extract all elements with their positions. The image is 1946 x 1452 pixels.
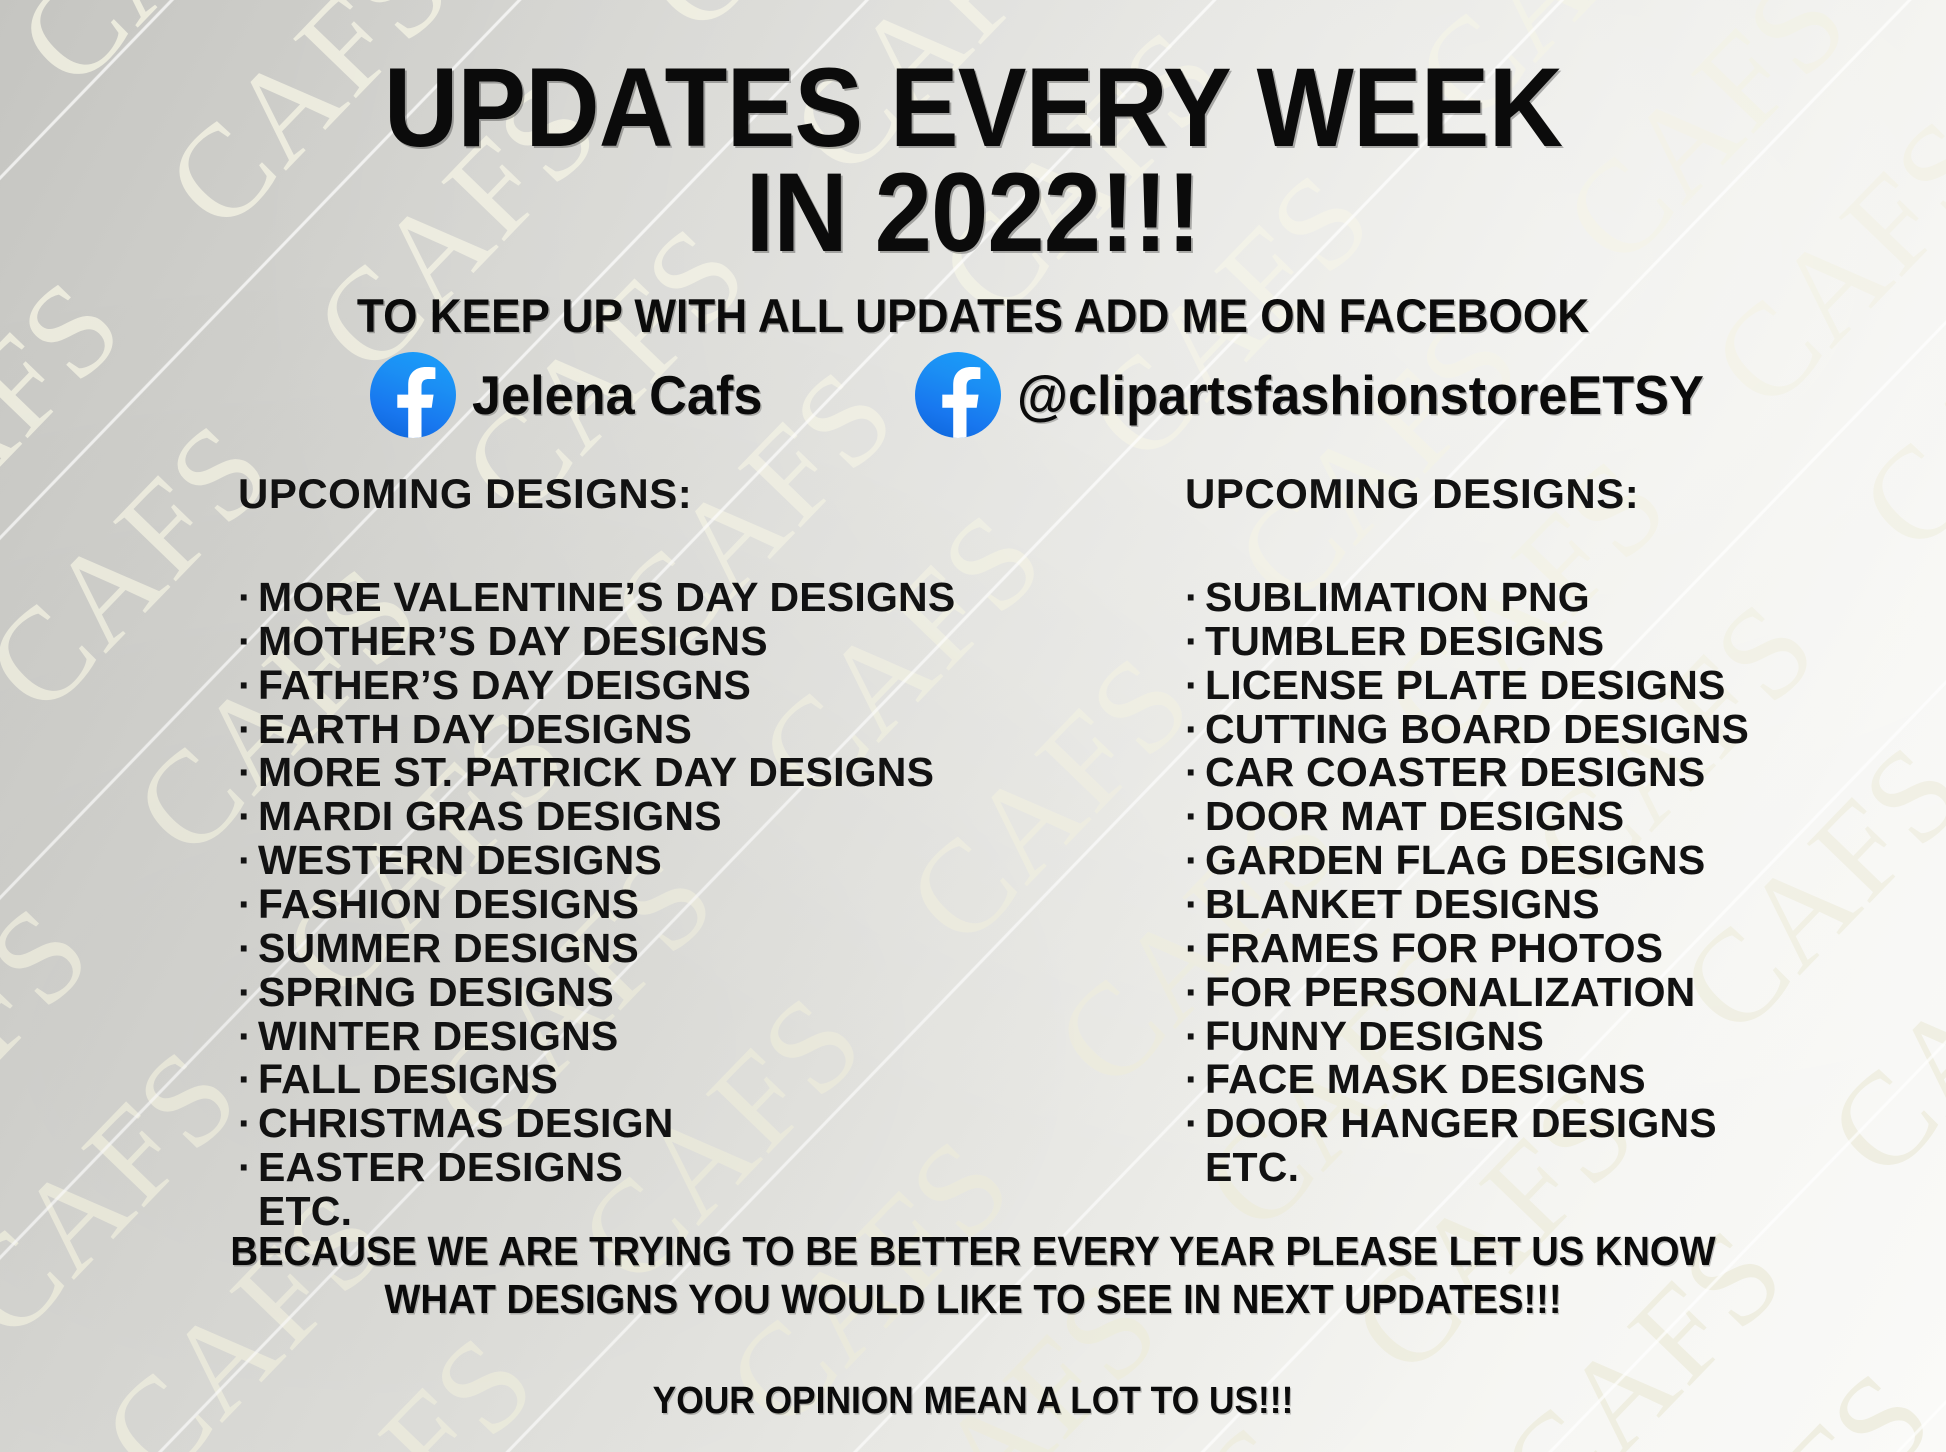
list-bullet: · xyxy=(238,1146,258,1190)
list-item: ·MORE ST. PATRICK DAY DESIGNS xyxy=(238,751,955,795)
column-heading: UPCOMING DESIGNS: xyxy=(238,470,955,518)
list-item: ·DOOR HANGER DESIGNS xyxy=(1185,1102,1749,1146)
list-bullet: · xyxy=(1185,1102,1205,1146)
list-bullet: · xyxy=(238,1102,258,1146)
list-bullet: · xyxy=(238,751,258,795)
list-item-label: DOOR MAT DESIGNS xyxy=(1205,795,1624,839)
list-bullet: · xyxy=(238,795,258,839)
list-bullet: · xyxy=(238,971,258,1015)
list-item-label: FOR PERSONALIZATION xyxy=(1205,971,1695,1015)
list-bullet: · xyxy=(238,664,258,708)
social-account-etsy-store[interactable]: @clipartsfashionstoreETSY xyxy=(915,352,1740,438)
list-item-label: GARDEN FLAG DESIGNS xyxy=(1205,839,1705,883)
list-bullet: · xyxy=(238,1058,258,1102)
headline-line-1: UPDATES EVERY WEEK xyxy=(78,55,1868,160)
list-item: ·EARTH DAY DESIGNS xyxy=(238,708,955,752)
list-item: ·FACE MASK DESIGNS xyxy=(1185,1058,1749,1102)
list-bullet: · xyxy=(1185,576,1205,620)
list-item: ·CAR COASTER DESIGNS xyxy=(1185,751,1749,795)
list-bullet: · xyxy=(238,576,258,620)
list-item-label: WINTER DESIGNS xyxy=(258,1015,618,1059)
list-bullet: · xyxy=(1185,1058,1205,1102)
list-item-label: CUTTING BOARD DESIGNS xyxy=(1205,708,1749,752)
column-heading: UPCOMING DESIGNS: xyxy=(1185,470,1749,518)
list-item: ·FALL DESIGNS xyxy=(238,1058,955,1102)
list-bullet: · xyxy=(238,620,258,664)
list-item: ·LICENSE PLATE DESIGNS xyxy=(1185,664,1749,708)
list-item: ·FASHION DESIGNS xyxy=(238,883,955,927)
list-item: ·BLANKET DESIGNS xyxy=(1185,883,1749,927)
list-item-label: WESTERN DESIGNS xyxy=(258,839,662,883)
list-item-label: FASHION DESIGNS xyxy=(258,883,639,927)
list-bullet: · xyxy=(1185,795,1205,839)
subheadline: TO KEEP UP WITH ALL UPDATES ADD ME ON FA… xyxy=(58,288,1887,343)
list-item: ·EASTER DESIGNS xyxy=(238,1146,955,1190)
list-item-label: EASTER DESIGNS xyxy=(258,1146,623,1190)
list-item: ·WESTERN DESIGNS xyxy=(238,839,955,883)
list-bullet: · xyxy=(1185,839,1205,883)
footer-message: BECAUSE WE ARE TRYING TO BE BETTER EVERY… xyxy=(68,1228,1878,1423)
list-bullet: · xyxy=(238,883,258,927)
social-account-name: @clipartsfashionstoreETSY xyxy=(1017,363,1704,427)
list-bullet: · xyxy=(1185,708,1205,752)
list-item: ·SPRING DESIGNS xyxy=(238,971,955,1015)
list-item-label: FRAMES FOR PHOTOS xyxy=(1205,927,1663,971)
list-bullet: · xyxy=(238,708,258,752)
list-bullet: · xyxy=(1185,664,1205,708)
upcoming-designs-column-left: UPCOMING DESIGNS: ·MORE VALENTINE’S DAY … xyxy=(238,470,955,1234)
list-item-trailing: ·ETC. xyxy=(1185,1146,1749,1190)
list-item-label: MORE VALENTINE’S DAY DESIGNS xyxy=(258,576,955,620)
list-item: ·FUNNY DESIGNS xyxy=(1185,1015,1749,1059)
facebook-icon xyxy=(915,352,1001,438)
list-item-label: MARDI GRAS DESIGNS xyxy=(258,795,722,839)
page-title: UPDATES EVERY WEEK IN 2022!!! xyxy=(78,55,1868,266)
social-account-jelena-cafs[interactable]: Jelena Cafs xyxy=(370,352,778,438)
list-item-label: CAR COASTER DESIGNS xyxy=(1205,751,1705,795)
list-item: ·TUMBLER DESIGNS xyxy=(1185,620,1749,664)
list-item-label: FUNNY DESIGNS xyxy=(1205,1015,1544,1059)
social-account-name: Jelena Cafs xyxy=(472,363,762,427)
list-item: ·SUBLIMATION PNG xyxy=(1185,576,1749,620)
list-item: ·FRAMES FOR PHOTOS xyxy=(1185,927,1749,971)
list-item: ·FATHER’S DAY DEISGNS xyxy=(238,664,955,708)
list-item-label: LICENSE PLATE DESIGNS xyxy=(1205,664,1726,708)
list-item-label: SUBLIMATION PNG xyxy=(1205,576,1590,620)
upcoming-designs-column-right: UPCOMING DESIGNS: ·SUBLIMATION PNG·TUMBL… xyxy=(1185,470,1749,1190)
headline-line-2: IN 2022!!! xyxy=(78,160,1868,265)
footer-line-3: YOUR OPINION MEAN A LOT TO US!!! xyxy=(68,1380,1878,1423)
social-accounts: Jelena Cafs @clipartsfashionstoreETSY xyxy=(0,352,1946,444)
list-bullet: · xyxy=(1185,971,1205,1015)
list-item: ·FOR PERSONALIZATION xyxy=(1185,971,1749,1015)
facebook-icon xyxy=(370,352,456,438)
list-item-label: TUMBLER DESIGNS xyxy=(1205,620,1604,664)
footer-spacer xyxy=(68,1324,1878,1380)
list-item-label: MOTHER’S DAY DESIGNS xyxy=(258,620,768,664)
list-item-label: DOOR HANGER DESIGNS xyxy=(1205,1102,1717,1146)
list-item: ·CHRISTMAS DESIGN xyxy=(238,1102,955,1146)
list-item-label: EARTH DAY DESIGNS xyxy=(258,708,692,752)
design-list: ·SUBLIMATION PNG·TUMBLER DESIGNS·LICENSE… xyxy=(1185,576,1749,1190)
list-bullet: · xyxy=(1185,883,1205,927)
list-item: ·SUMMER DESIGNS xyxy=(238,927,955,971)
list-bullet: · xyxy=(238,1015,258,1059)
list-item-label: SUMMER DESIGNS xyxy=(258,927,639,971)
list-bullet: · xyxy=(1185,620,1205,664)
list-item-label: MORE ST. PATRICK DAY DESIGNS xyxy=(258,751,934,795)
list-item: ·MARDI GRAS DESIGNS xyxy=(238,795,955,839)
list-bullet: · xyxy=(238,839,258,883)
list-item-label: FALL DESIGNS xyxy=(258,1058,558,1102)
list-item: ·MORE VALENTINE’S DAY DESIGNS xyxy=(238,576,955,620)
list-item: ·WINTER DESIGNS xyxy=(238,1015,955,1059)
list-item-label: ETC. xyxy=(1205,1146,1299,1190)
list-bullet: · xyxy=(1185,751,1205,795)
footer-line-1: BECAUSE WE ARE TRYING TO BE BETTER EVERY… xyxy=(68,1228,1878,1276)
list-item: ·GARDEN FLAG DESIGNS xyxy=(1185,839,1749,883)
list-item: ·CUTTING BOARD DESIGNS xyxy=(1185,708,1749,752)
list-item: ·DOOR MAT DESIGNS xyxy=(1185,795,1749,839)
list-item-label: CHRISTMAS DESIGN xyxy=(258,1102,674,1146)
list-item: ·MOTHER’S DAY DESIGNS xyxy=(238,620,955,664)
promo-poster: CAFSCAFSCAFSCAFSCAFSCAFSCAFSCAFSCAFSCAFS… xyxy=(0,0,1946,1452)
footer-line-2: WHAT DESIGNS YOU WOULD LIKE TO SEE IN NE… xyxy=(68,1276,1878,1324)
design-list: ·MORE VALENTINE’S DAY DESIGNS·MOTHER’S D… xyxy=(238,576,955,1234)
list-item-label: BLANKET DESIGNS xyxy=(1205,883,1600,927)
list-item-label: SPRING DESIGNS xyxy=(258,971,614,1015)
list-bullet: · xyxy=(238,927,258,971)
list-item-label: FACE MASK DESIGNS xyxy=(1205,1058,1646,1102)
list-item-label: FATHER’S DAY DEISGNS xyxy=(258,664,751,708)
list-bullet: · xyxy=(1185,927,1205,971)
list-bullet: · xyxy=(1185,1015,1205,1059)
